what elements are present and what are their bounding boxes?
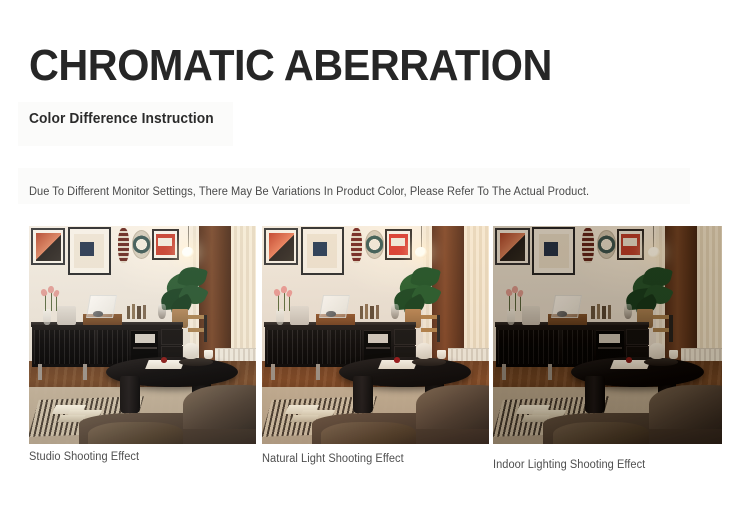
coffee-table-leg (353, 376, 373, 413)
speaker (522, 306, 540, 326)
framed-art-2 (532, 227, 576, 275)
wall-beads-decor (351, 228, 362, 263)
sofa-cushion (321, 422, 416, 444)
living-room-scene (493, 226, 722, 444)
pendant-lamp (648, 247, 660, 258)
serving-tray (179, 358, 213, 366)
speaker (290, 306, 308, 326)
decor-bottle (127, 306, 131, 319)
page-subtitle: Color Difference Instruction (29, 109, 214, 129)
framed-art-3 (617, 229, 644, 260)
photo-panel-natural-light (262, 226, 489, 444)
pendant-lamp (415, 247, 427, 258)
sideboard-fluted-door (267, 330, 328, 365)
decor-bottle (591, 306, 595, 319)
turntable-lid (319, 295, 350, 318)
sideboard-fluted-door (34, 330, 95, 365)
sideboard-fluted-door (330, 330, 362, 365)
sideboard-leg (83, 364, 87, 379)
flower-vase (43, 309, 51, 325)
page-title: CHROMATIC ABERRATION (29, 40, 552, 92)
panel-caption-studio: Studio Shooting Effect (29, 450, 211, 465)
wall-plate-decor (365, 230, 384, 258)
sideboard-leg (502, 364, 506, 379)
fruit-decor (161, 357, 167, 362)
sideboard-leg (271, 364, 275, 379)
decor-bottle (132, 304, 136, 319)
decor-bottle (602, 306, 606, 318)
framed-art-1 (495, 228, 529, 265)
shelf-item (135, 334, 155, 343)
turntable-lid (86, 295, 117, 318)
sideboard-drawer (394, 329, 417, 345)
serving-tray (644, 358, 678, 366)
decor-bottle (597, 304, 601, 319)
chromatic-aberration-banner: CHROMATIC ABERRATION Color Difference In… (0, 0, 750, 526)
wall-beads-decor (582, 228, 593, 263)
glass-carafe (158, 304, 166, 318)
decor-bottle (365, 304, 369, 319)
sofa-arm (183, 385, 256, 429)
teapot (416, 343, 432, 359)
coffee-table-leg (585, 376, 606, 413)
decor-bottle (360, 306, 364, 319)
sideboard-leg (316, 364, 320, 379)
panel-caption-indoor-lighting: Indoor Lighting Shooting Effect (493, 458, 699, 473)
decor-bottle (143, 305, 147, 319)
teapot (649, 343, 665, 359)
sideboard-fluted-door (562, 330, 594, 365)
flower-vase (507, 309, 515, 325)
sofa-cushion (553, 422, 649, 444)
framed-art-1 (31, 228, 65, 265)
serving-tray (412, 358, 446, 366)
fruit-decor (394, 357, 400, 362)
wall-shelf-rail (669, 315, 672, 341)
living-room-scene (262, 226, 489, 444)
panel-caption-natural-light: Natural Light Shooting Effect (262, 452, 444, 467)
sideboard-drawer (161, 329, 184, 345)
sideboard-fluted-door (498, 330, 560, 365)
flower-vase (276, 309, 284, 325)
coffee-table-leg (120, 376, 140, 413)
sofa-arm (649, 385, 722, 429)
framed-art-3 (152, 229, 179, 260)
glass-carafe (391, 304, 399, 318)
pendant-lamp (182, 247, 194, 258)
sofa-cushion (88, 422, 183, 444)
speaker (57, 306, 75, 326)
photo-panel-studio (29, 226, 256, 444)
decor-bottle (370, 306, 374, 318)
decor-bottle (608, 305, 612, 319)
cup (669, 350, 678, 359)
sofa-arm (416, 385, 489, 429)
glass-carafe (624, 304, 632, 318)
teapot (183, 343, 199, 359)
framed-art-2 (68, 227, 111, 275)
living-room-scene (29, 226, 256, 444)
sideboard-leg (548, 364, 552, 379)
cup (204, 350, 213, 359)
wall-plate-decor (597, 230, 616, 258)
shelf-item (368, 334, 388, 343)
turntable-lid (551, 295, 582, 318)
wall-shelf-rail (437, 315, 440, 341)
decor-bottle (137, 306, 141, 318)
sideboard-fluted-door (97, 330, 129, 365)
wall-shelf-rail (204, 315, 207, 341)
wall-beads-decor (118, 228, 129, 263)
sideboard-drawer (626, 329, 649, 345)
wall-plate-decor (132, 230, 151, 258)
decor-bottle (376, 305, 380, 319)
sideboard-leg (38, 364, 42, 379)
disclaimer-text: Due To Different Monitor Settings, There… (29, 184, 589, 200)
shelf-item (599, 334, 620, 343)
fruit-decor (626, 357, 632, 362)
framed-art-2 (301, 227, 344, 275)
photo-panel-indoor-lighting (493, 226, 722, 444)
framed-art-3 (385, 229, 412, 260)
framed-art-1 (264, 228, 298, 265)
cup (437, 350, 446, 359)
